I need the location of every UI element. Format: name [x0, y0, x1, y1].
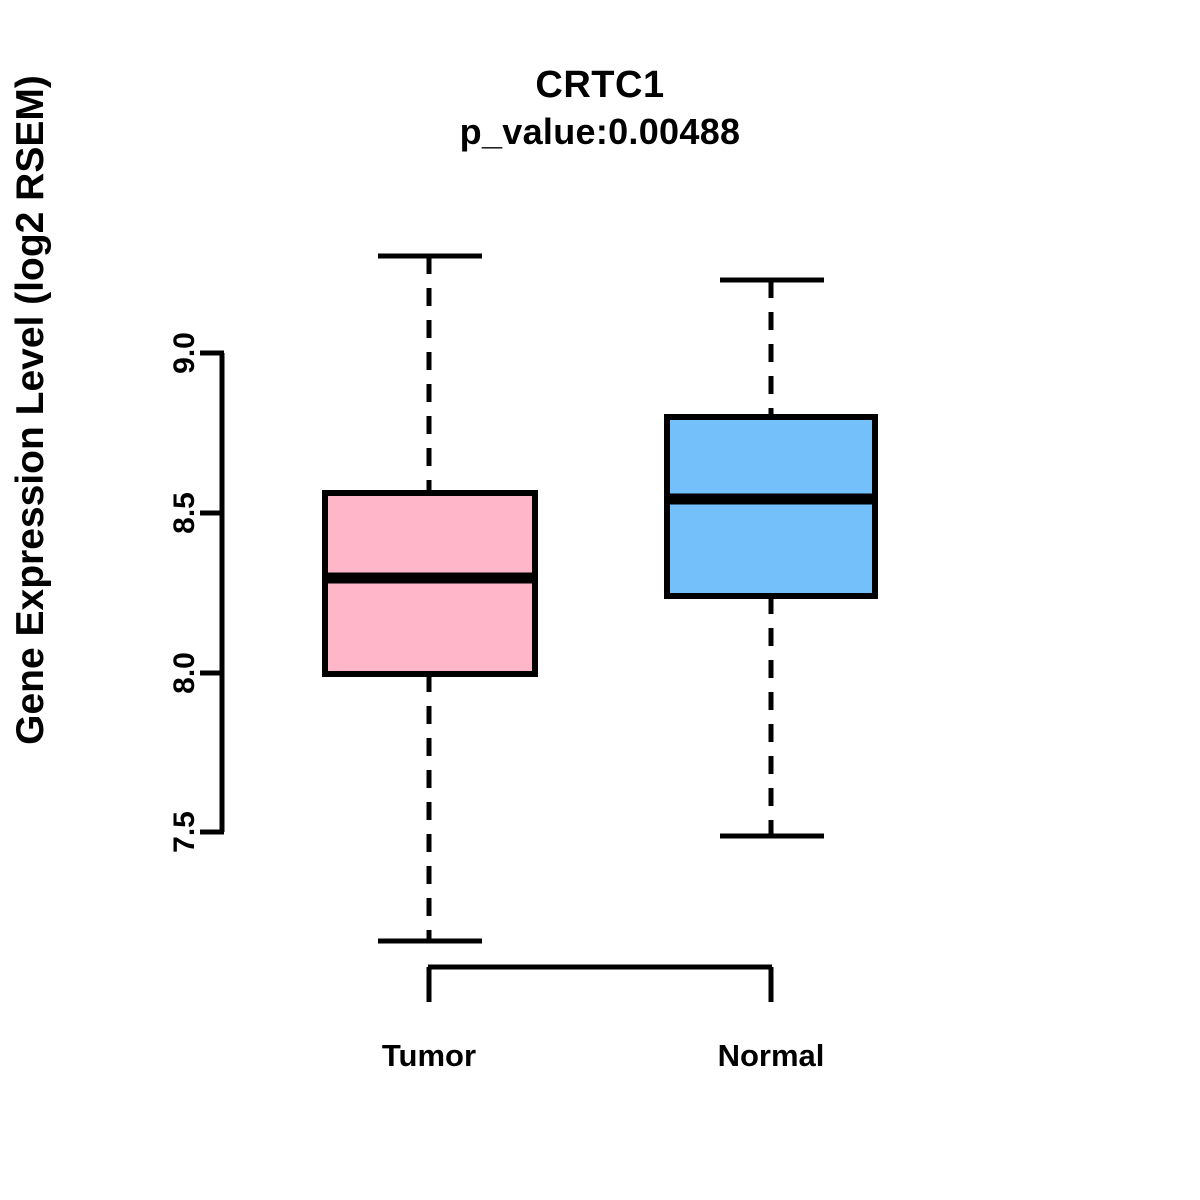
plot-canvas — [0, 0, 1200, 1200]
box-normal — [667, 280, 875, 836]
x-tick-label-normal: Normal — [671, 1038, 871, 1074]
normal-box-rect — [667, 417, 875, 596]
x-tick-label-tumor: Tumor — [329, 1038, 529, 1074]
y-axis — [200, 353, 224, 832]
boxplot-figure: CRTC1 p_value:0.00488 Gene Expression Le… — [0, 0, 1200, 1200]
box-tumor — [325, 256, 535, 941]
x-axis — [428, 967, 772, 1002]
